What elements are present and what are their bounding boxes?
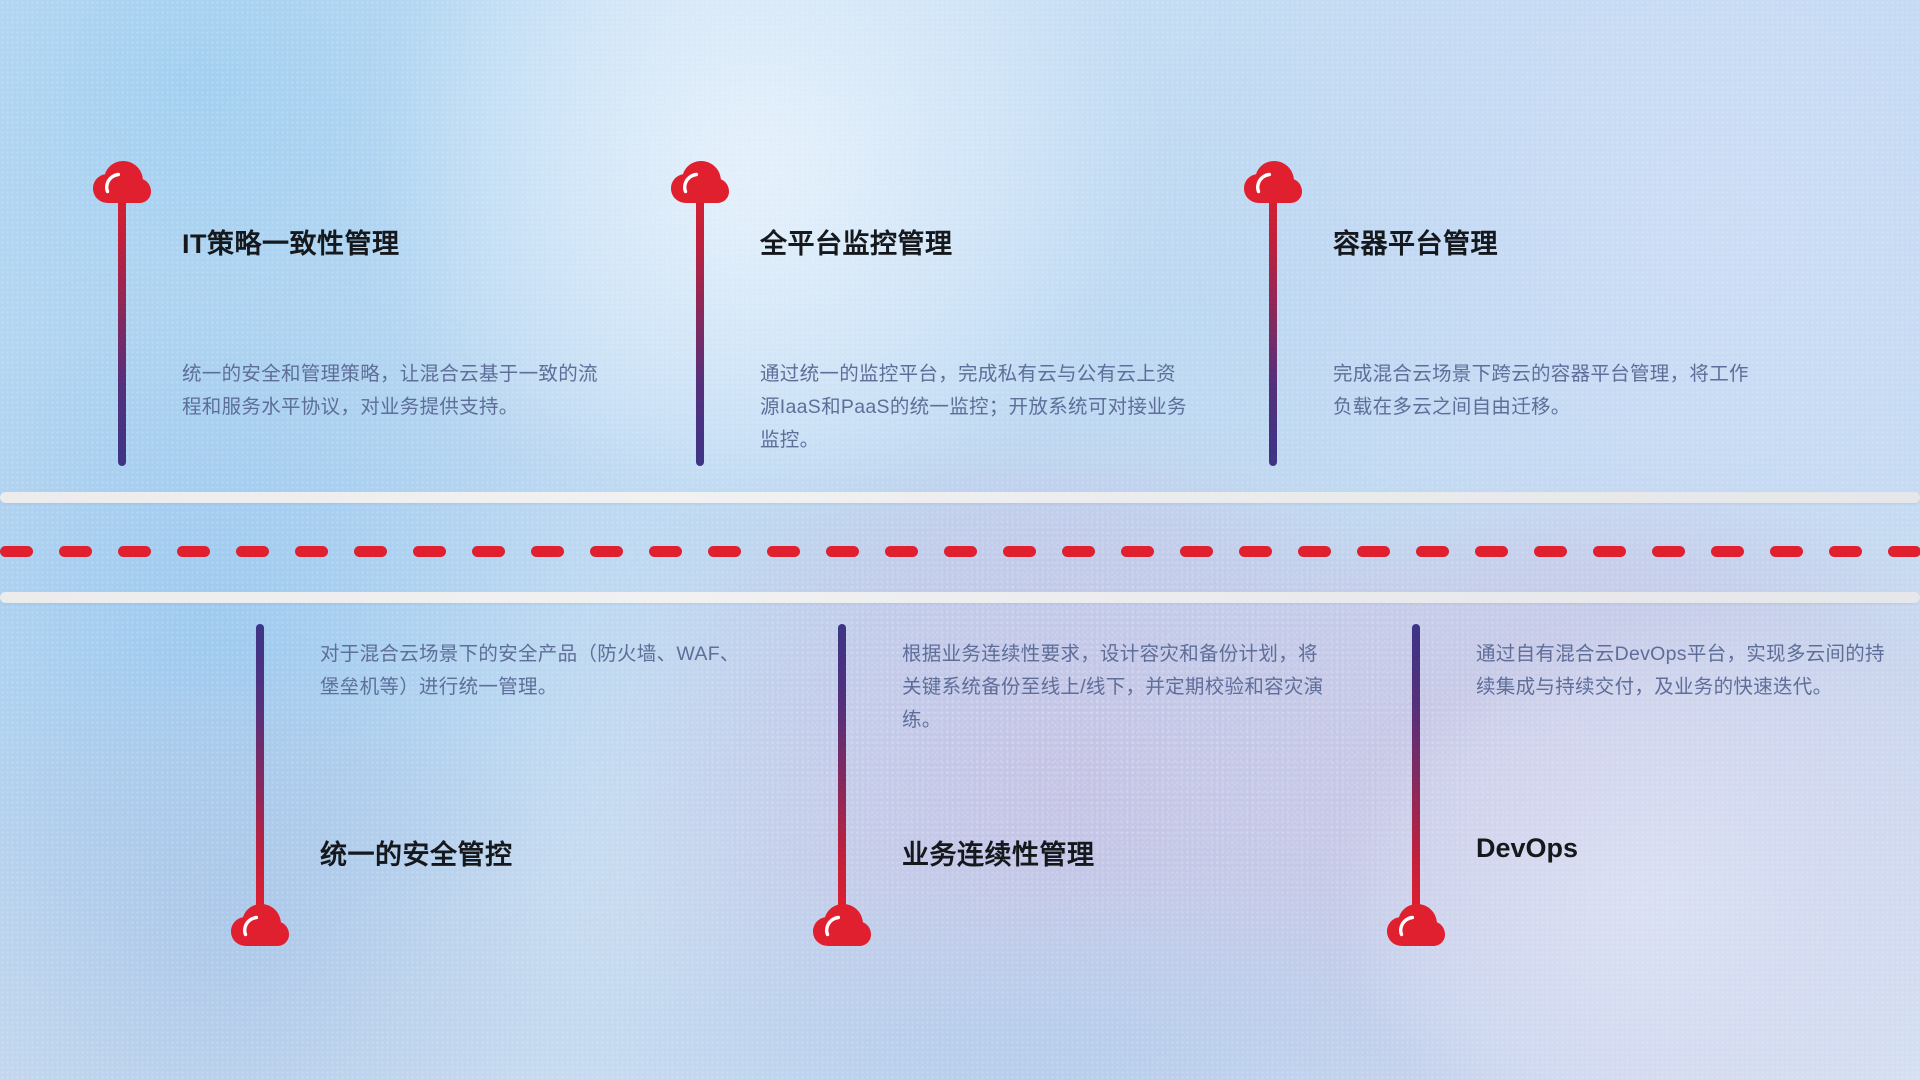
dash-segment xyxy=(59,546,92,557)
dash-segment xyxy=(1298,546,1331,557)
dash-segment xyxy=(1003,546,1036,557)
dash-segment xyxy=(1711,546,1744,557)
dash-segment xyxy=(1888,546,1920,557)
dash-segment xyxy=(1652,546,1685,557)
divider-rule-upper xyxy=(0,492,1920,503)
dash-segment xyxy=(1062,546,1095,557)
dash-segment xyxy=(1357,546,1390,557)
dash-segment xyxy=(0,546,33,557)
dash-segment xyxy=(826,546,859,557)
dash-segment xyxy=(1121,546,1154,557)
divider-rule-lower xyxy=(0,592,1920,603)
dash-segment xyxy=(413,546,446,557)
dash-segment xyxy=(649,546,682,557)
dash-segment xyxy=(531,546,564,557)
divider-dashed-line xyxy=(0,546,1920,557)
cloud-icon xyxy=(1243,160,1303,204)
item-title: 业务连续性管理 xyxy=(902,833,1095,872)
cloud-icon xyxy=(92,160,152,204)
dash-segment xyxy=(767,546,800,557)
connector-line xyxy=(696,178,704,466)
dash-segment xyxy=(1416,546,1449,557)
item-title: 统一的安全管控 xyxy=(320,833,513,872)
item-title: DevOps xyxy=(1476,833,1578,864)
dash-segment xyxy=(885,546,918,557)
dash-segment xyxy=(1475,546,1508,557)
connector-line xyxy=(256,624,264,912)
cloud-icon xyxy=(1386,903,1446,947)
dash-segment xyxy=(177,546,210,557)
item-description: 对于混合云场景下的安全产品（防火墙、WAF、堡垒机等）进行统一管理。 xyxy=(320,638,740,704)
dash-segment xyxy=(708,546,741,557)
dash-segment xyxy=(1180,546,1213,557)
dash-segment xyxy=(1770,546,1803,557)
item-title: 容器平台管理 xyxy=(1333,222,1498,261)
connector-line xyxy=(1412,624,1420,912)
dash-segment xyxy=(354,546,387,557)
cloud-icon xyxy=(230,903,290,947)
dash-segment xyxy=(1593,546,1626,557)
item-title: IT策略一致性管理 xyxy=(182,222,400,261)
item-description: 通过自有混合云DevOps平台，实现多云间的持续集成与持续交付，及业务的快速迭代… xyxy=(1476,638,1896,704)
item-description: 通过统一的监控平台，完成私有云与公有云上资源IaaS和PaaS的统一监控；开放系… xyxy=(760,358,1190,457)
item-description: 统一的安全和管理策略，让混合云基于一致的流程和服务水平协议，对业务提供支持。 xyxy=(182,358,602,424)
dash-segment xyxy=(236,546,269,557)
dash-segment xyxy=(295,546,328,557)
dash-segment xyxy=(1239,546,1272,557)
dash-segment xyxy=(1829,546,1862,557)
dash-segment xyxy=(1534,546,1567,557)
dash-segment xyxy=(944,546,977,557)
dash-segment xyxy=(590,546,623,557)
dash-segment xyxy=(472,546,505,557)
connector-line xyxy=(1269,178,1277,466)
connector-line xyxy=(838,624,846,912)
item-title: 全平台监控管理 xyxy=(760,222,953,261)
connector-line xyxy=(118,178,126,466)
cloud-icon xyxy=(812,903,872,947)
dash-segment xyxy=(118,546,151,557)
item-description: 根据业务连续性要求，设计容灾和备份计划，将关键系统备份至线上/线下，并定期校验和… xyxy=(902,638,1332,737)
cloud-icon xyxy=(670,160,730,204)
infographic-canvas: IT策略一致性管理 统一的安全和管理策略，让混合云基于一致的流程和服务水平协议，… xyxy=(0,0,1920,1080)
item-description: 完成混合云场景下跨云的容器平台管理，将工作负载在多云之间自由迁移。 xyxy=(1333,358,1753,424)
